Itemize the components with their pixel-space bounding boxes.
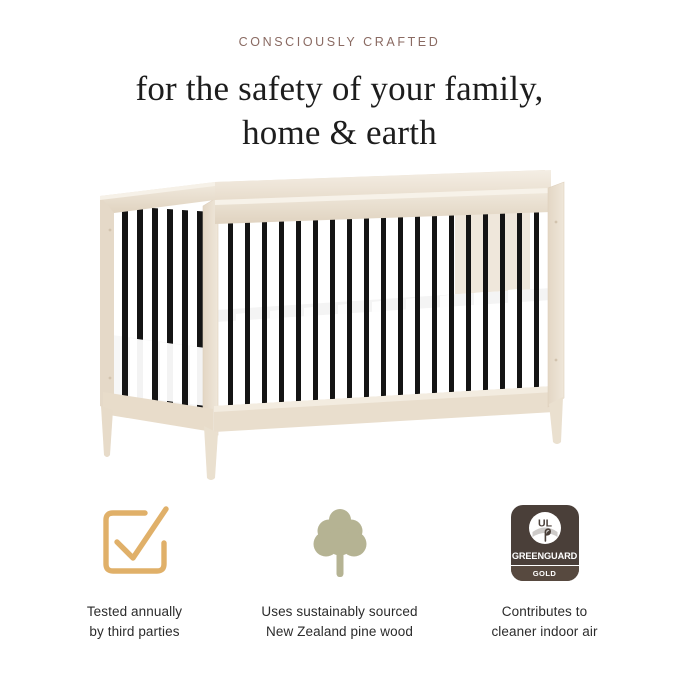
benefit-caption-line-1: Contributes to	[491, 602, 597, 622]
header: CONSCIOUSLY CRAFTED for the safety of yo…	[0, 36, 679, 156]
product-image-crib	[0, 160, 679, 480]
badge-tier-bar: GOLD	[511, 566, 579, 581]
headline-line-2: home & earth	[0, 111, 679, 156]
checkbox-check-icon	[93, 501, 177, 585]
svg-text:UL: UL	[538, 518, 553, 530]
ul-mark-icon: UL	[527, 510, 563, 551]
benefit-caption: Tested annually by third parties	[87, 602, 182, 641]
eyebrow-text: CONSCIOUSLY CRAFTED	[0, 36, 679, 49]
crib-corner-post-front-right	[548, 182, 564, 407]
benefit-caption-line-2: New Zealand pine wood	[261, 622, 417, 642]
crib-corner-post-back-left	[100, 196, 114, 412]
crib-hardware-dot	[555, 359, 558, 362]
benefit-item-sustainable-wood: Uses sustainably sourced New Zealand pin…	[237, 500, 442, 641]
crib-leg-back-left	[101, 406, 113, 457]
crib-hardware-dot	[109, 377, 112, 380]
benefit-icon-wrapper: UL GREENGUARD GOLD	[511, 500, 579, 586]
benefit-item-tested-annually: Tested annually by third parties	[32, 500, 237, 641]
badge-tier-label: GOLD	[533, 570, 557, 578]
crib-hardware-dot	[109, 229, 112, 232]
benefit-caption-line-1: Tested annually	[87, 602, 182, 622]
benefit-caption-line-1: Uses sustainably sourced	[261, 602, 417, 622]
crib-illustration	[0, 160, 679, 480]
infographic-page: CONSCIOUSLY CRAFTED for the safety of yo…	[0, 0, 679, 679]
benefit-icon-wrapper	[298, 500, 382, 586]
crib-leg-front-right	[549, 397, 563, 444]
benefit-item-indoor-air: UL GREENGUARD GOLD Contributes to cleane…	[442, 500, 647, 641]
benefit-caption-line-2: by third parties	[87, 622, 182, 642]
benefits-row: Tested annually by third parties	[0, 500, 679, 641]
page-title: for the safety of your family, home & ea…	[0, 67, 679, 157]
tree-icon	[298, 501, 382, 585]
greenguard-gold-badge-icon: UL GREENGUARD GOLD	[511, 505, 579, 581]
crib-leg-front-left	[204, 426, 218, 480]
benefit-caption: Contributes to cleaner indoor air	[491, 602, 597, 641]
benefit-caption: Uses sustainably sourced New Zealand pin…	[261, 602, 417, 641]
crib-corner-post-front-left	[203, 197, 218, 435]
benefit-icon-wrapper	[93, 500, 177, 586]
headline-line-1: for the safety of your family,	[0, 67, 679, 112]
greenguard-label: GREENGUARD	[512, 552, 577, 561]
crib-hardware-dot	[555, 221, 558, 224]
benefit-caption-line-2: cleaner indoor air	[491, 622, 597, 642]
